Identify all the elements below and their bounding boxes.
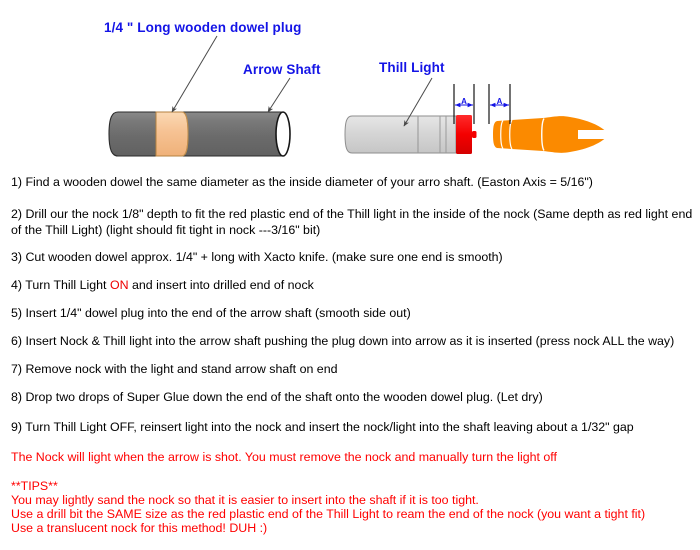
thill-light-group <box>345 115 477 154</box>
tip-item-3: Use a translucent nock for this method! … <box>11 521 267 537</box>
instruction-step-5: 5) Insert 1/4" dowel plug into the end o… <box>11 306 411 322</box>
thill-light-body <box>345 116 456 153</box>
dimension-a-nock: A <box>489 84 510 124</box>
dimension-a-nock-label: A <box>497 97 503 106</box>
nock-slot <box>578 130 609 139</box>
arrow-shaft <box>109 112 283 156</box>
instruction-step-7: 7) Remove nock with the light and stand … <box>11 362 337 378</box>
step-4-text-after: and insert into drilled end of nock <box>129 278 314 292</box>
thill-light-tip-nub <box>472 131 477 138</box>
wooden-dowel-plug <box>156 112 188 156</box>
label-dowel-plug: 1/4 " Long wooden dowel plug <box>104 20 301 35</box>
instruction-step-9: 9) Turn Thill Light OFF, reinsert light … <box>11 420 634 436</box>
leader-line-dowel <box>172 36 217 112</box>
instruction-step-2: 2) Drill our the nock 1/8" depth to fit … <box>11 207 695 238</box>
warning-note: The Nock will light when the arrow is sh… <box>11 450 557 466</box>
instruction-step-8: 8) Drop two drops of Super Glue down the… <box>11 390 543 406</box>
step-4-text-before: 4) Turn Thill Light <box>11 278 110 292</box>
step-4-on-highlight: ON <box>110 278 129 292</box>
instruction-step-4: 4) Turn Thill Light ON and insert into d… <box>11 278 314 294</box>
assembly-diagram: A A 1/4 " Long wooden dowel plug Arrow S… <box>0 0 700 172</box>
shaft-opening <box>276 112 290 156</box>
label-thill-light: Thill Light <box>379 60 445 75</box>
instruction-step-1: 1) Find a wooden dowel the same diameter… <box>11 175 593 191</box>
arrow-shaft-group <box>109 112 290 156</box>
dimension-a-light-label: A <box>461 97 467 106</box>
label-arrow-shaft: Arrow Shaft <box>243 62 321 77</box>
instruction-step-3: 3) Cut wooden dowel approx. 1/4" + long … <box>11 250 503 266</box>
leader-line-shaft <box>268 78 290 112</box>
instruction-step-6: 6) Insert Nock & Thill light into the ar… <box>11 334 674 350</box>
thill-light-red-tip <box>456 115 472 154</box>
